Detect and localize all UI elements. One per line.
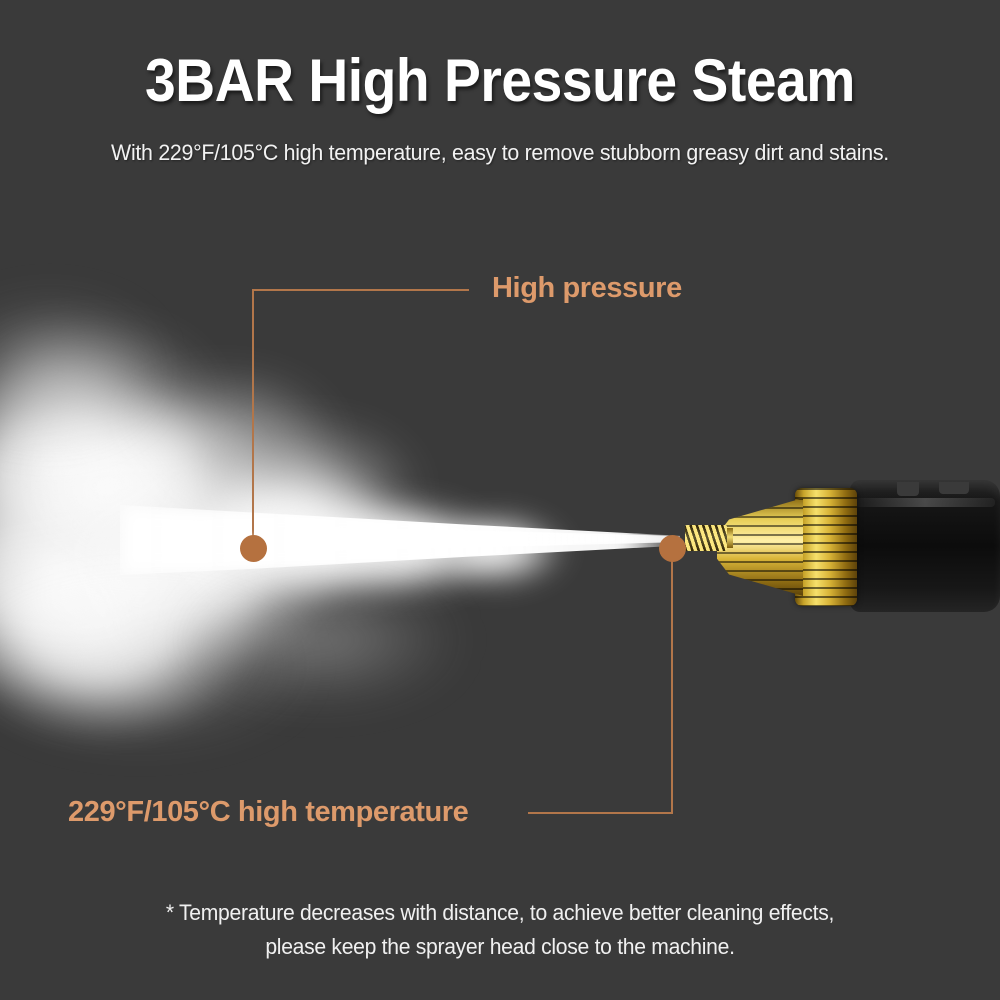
steam-puff [60, 470, 340, 670]
machine-highlight [855, 498, 995, 507]
steam-puff [0, 590, 310, 740]
temperature-connector-vertical [671, 556, 673, 814]
brass-sprayer-nozzle [655, 470, 1000, 635]
machine-notch [939, 482, 969, 494]
steam-puff [150, 450, 390, 610]
steam-puff [110, 370, 340, 520]
machine-notch [897, 482, 919, 496]
nozzle-tip-marker-dot [659, 535, 686, 562]
steam-plume [0, 330, 720, 730]
footnote: * Temperature decreases with distance, t… [106, 896, 893, 964]
steam-puff [0, 360, 210, 580]
steam-puff [180, 580, 460, 700]
label-high-pressure: High pressure [492, 272, 682, 305]
steam-puff [420, 510, 570, 590]
footnote-line-1: * Temperature decreases with distance, t… [106, 896, 893, 930]
threaded-tip [685, 525, 727, 551]
steam-jet-core [300, 526, 680, 552]
steam-puff [0, 440, 230, 700]
high-pressure-connector-vertical [252, 290, 254, 538]
label-temperature: 229°F/105°C high temperature [68, 796, 468, 829]
steam-puff [0, 300, 160, 440]
footnote-line-2: please keep the sprayer head close to th… [106, 930, 893, 964]
high-pressure-connector-horizontal [252, 289, 469, 291]
steam-puff [200, 420, 420, 560]
temperature-connector-horizontal [528, 812, 673, 814]
steam-jet [120, 505, 680, 575]
page-title: 3BAR High Pressure Steam [40, 46, 960, 115]
steam-puff [0, 320, 220, 490]
steam-plume-marker-dot [240, 535, 267, 562]
steam-puff [0, 510, 260, 740]
knurled-collar [795, 488, 857, 606]
product-infographic: 3BAR High Pressure Steam With 229°F/105°… [0, 0, 1000, 1000]
steam-puff [20, 390, 270, 580]
page-subtitle: With 229°F/105°C high temperature, easy … [25, 140, 975, 166]
steam-puff [320, 495, 500, 600]
